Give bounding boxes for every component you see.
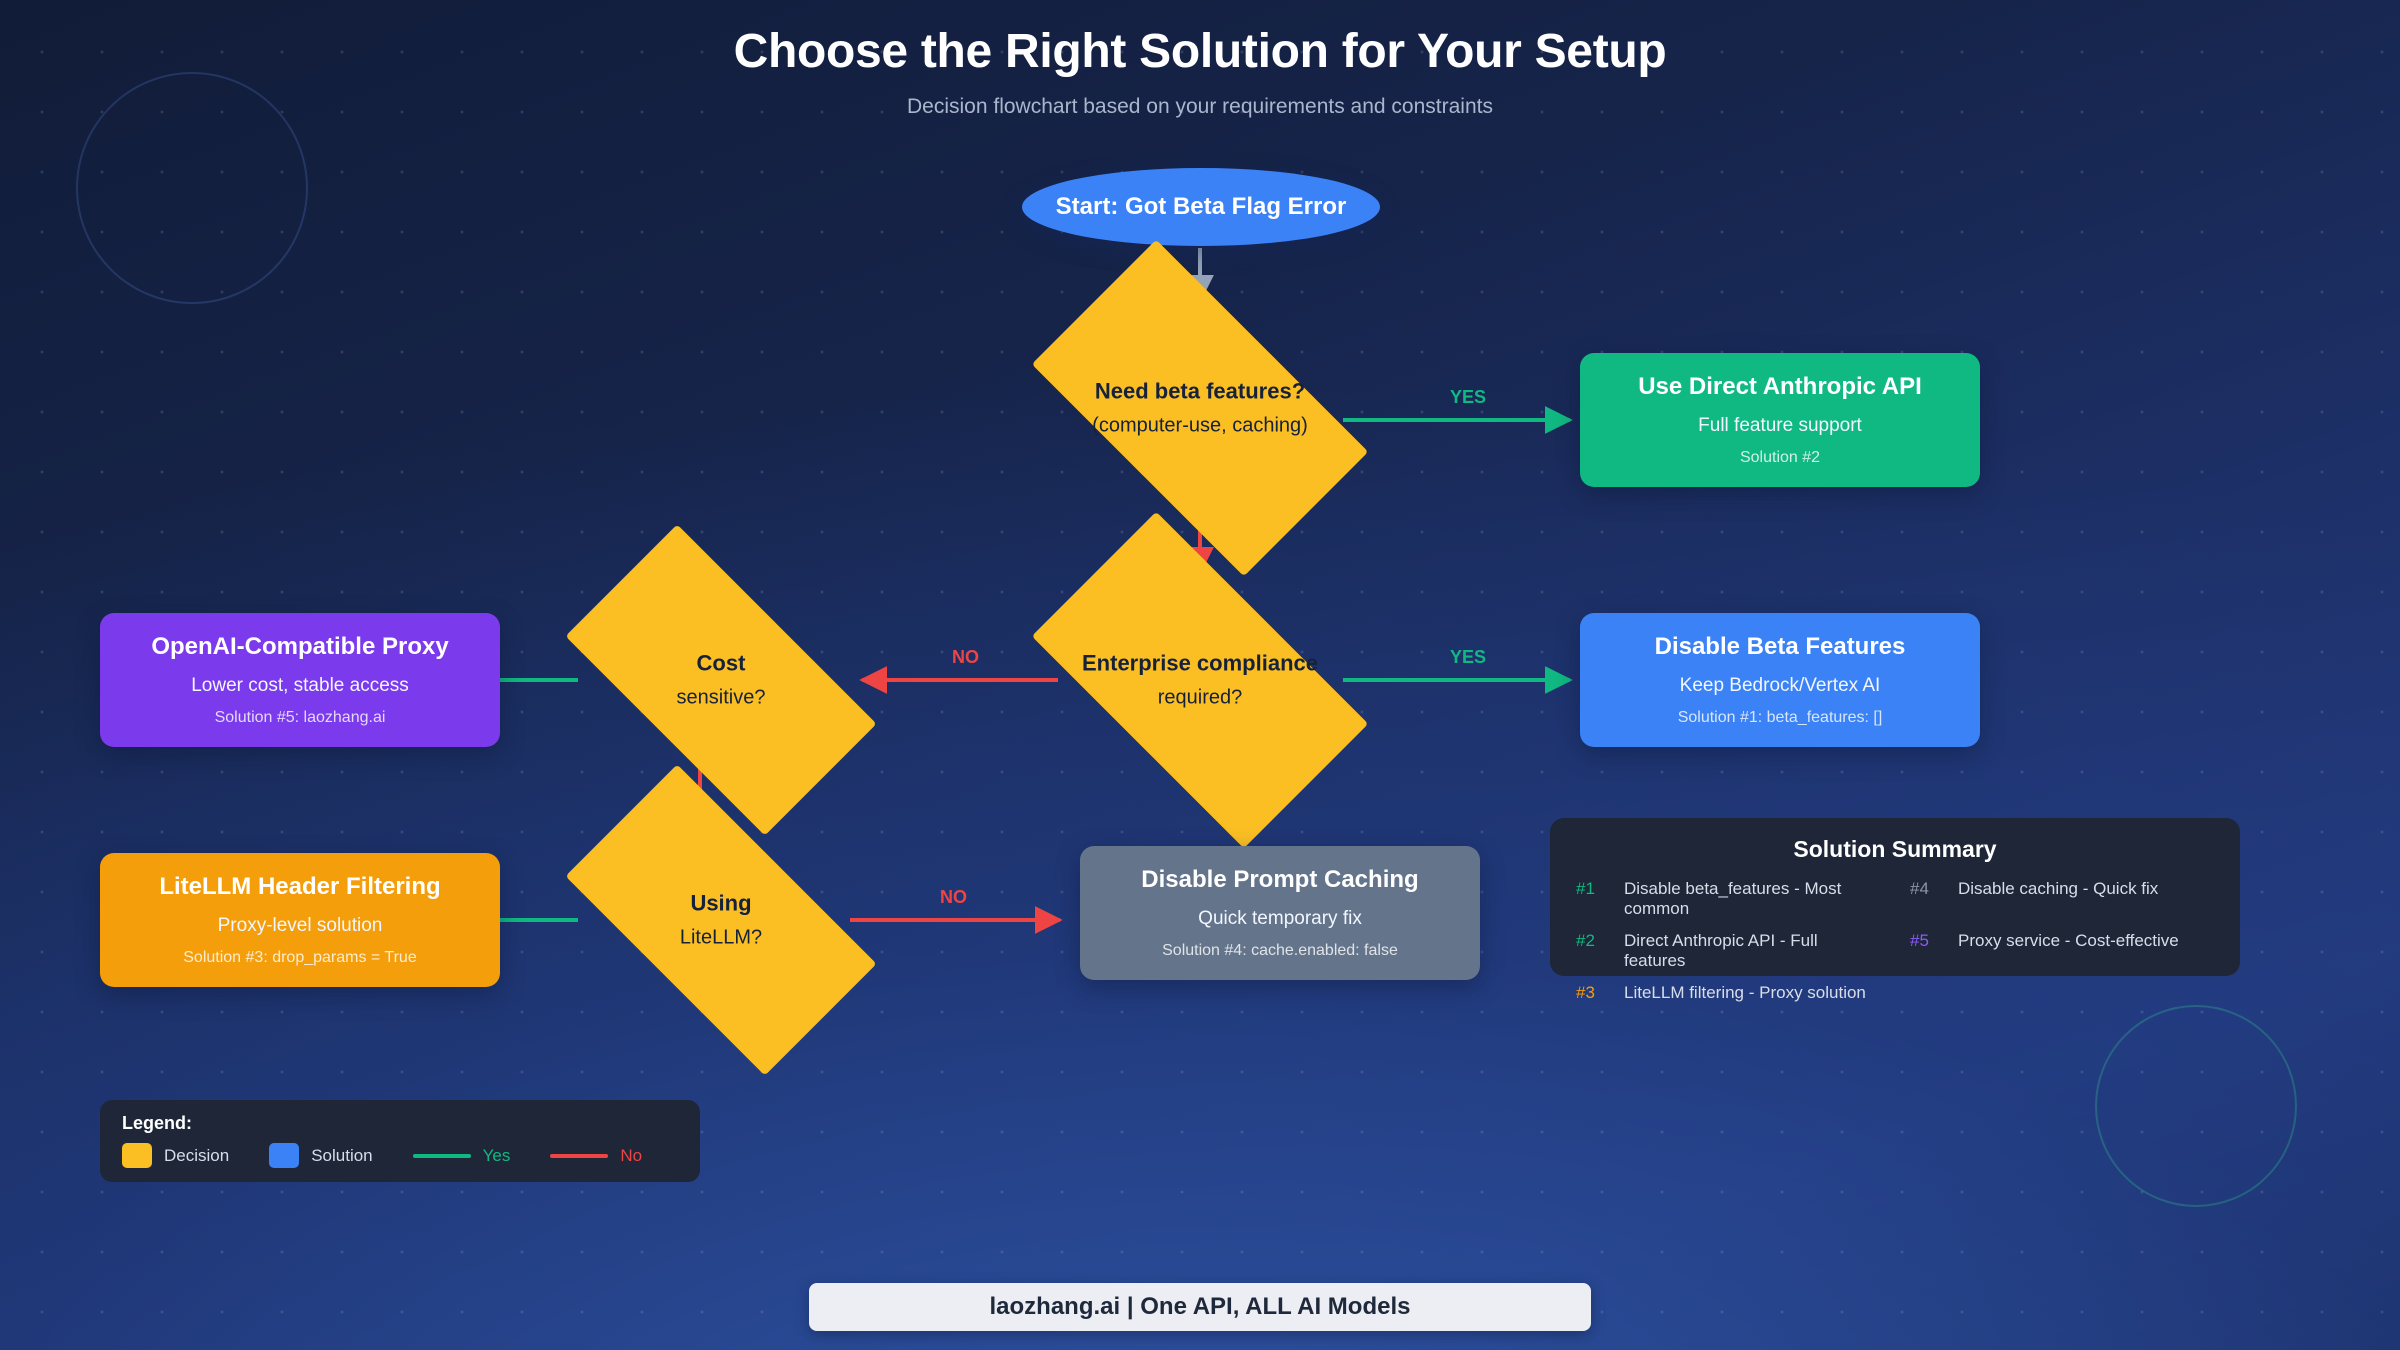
legend-item-solution: Solution [269, 1143, 372, 1168]
node-decision-need-beta-features[interactable]: Need beta features? (computer-use, cachi… [1050, 320, 1350, 496]
footer-text: laozhang.ai | One API, ALL AI Models [990, 1293, 1411, 1321]
solution-subtitle: Lower cost, stable access [191, 675, 409, 697]
summary-item-text: Proxy service - Cost-effective [1958, 931, 2179, 951]
decision-subtitle: required? [1050, 687, 1350, 710]
solution-subtitle: Full feature support [1698, 415, 1862, 437]
legend-title: Legend: [122, 1113, 678, 1134]
summary-item-number: #2 [1576, 931, 1624, 951]
node-decision-enterprise-compliance[interactable]: Enterprise compliance required? [1050, 592, 1350, 768]
summary-item-number: #4 [1910, 879, 1958, 899]
summary-item: #4 Disable caching - Quick fix [1910, 879, 2214, 919]
legend-item-yes: Yes [413, 1146, 511, 1166]
decision-title: Need beta features? [1050, 379, 1350, 405]
solution-subtitle: Quick temporary fix [1198, 908, 1362, 930]
node-decision-using-litellm[interactable]: Using LiteLLM? [580, 841, 862, 999]
summary-item-number: #5 [1910, 931, 1958, 951]
summary-item: #1 Disable beta_features - Most common [1576, 879, 1880, 919]
decision-subtitle: LiteLLM? [580, 927, 862, 950]
solution-meta: Solution #3: drop_params = True [183, 949, 416, 967]
solution-meta: Solution #5: laozhang.ai [215, 709, 386, 727]
node-solution-disable-beta-features[interactable]: Disable Beta Features Keep Bedrock/Verte… [1580, 613, 1980, 747]
legend-item-no: No [550, 1146, 642, 1166]
solution-subtitle: Keep Bedrock/Vertex AI [1680, 675, 1881, 697]
solution-subtitle: Proxy-level solution [218, 915, 383, 937]
decision-swatch-icon [122, 1143, 152, 1168]
solution-summary-panel: Solution Summary #1 Disable beta_feature… [1550, 818, 2240, 976]
no-line-icon [550, 1154, 608, 1158]
edge-label-compliance-no: NO [952, 647, 979, 668]
edge-label-beta-yes: YES [1450, 387, 1486, 408]
header: Choose the Right Solution for Your Setup… [0, 26, 2400, 119]
node-solution-openai-compatible-proxy[interactable]: OpenAI-Compatible Proxy Lower cost, stab… [100, 613, 500, 747]
footer-banner[interactable]: laozhang.ai | One API, ALL AI Models [809, 1283, 1591, 1331]
summary-item-number: #3 [1576, 983, 1624, 1003]
node-solution-disable-prompt-caching[interactable]: Disable Prompt Caching Quick temporary f… [1080, 846, 1480, 980]
solution-title: Disable Prompt Caching [1141, 866, 1418, 894]
solution-title: Disable Beta Features [1655, 633, 1906, 661]
legend-panel: Legend: Decision Solution Yes No [100, 1100, 700, 1182]
decorative-circle-bottom-right [2095, 1005, 2297, 1207]
summary-item: #5 Proxy service - Cost-effective [1910, 931, 2214, 971]
summary-empty-cell [1910, 983, 2214, 1003]
decision-title: Using [580, 891, 862, 917]
solution-meta: Solution #2 [1740, 449, 1820, 467]
page-title: Choose the Right Solution for Your Setup [0, 26, 2400, 79]
summary-item-text: Disable beta_features - Most common [1624, 879, 1880, 919]
decision-subtitle: sensitive? [580, 687, 862, 710]
decision-title: Enterprise compliance [1050, 651, 1350, 677]
summary-item: #3 LiteLLM filtering - Proxy solution [1576, 983, 1880, 1003]
solution-title: LiteLLM Header Filtering [159, 873, 440, 901]
legend-label: Yes [483, 1146, 511, 1166]
yes-line-icon [413, 1154, 471, 1158]
node-solution-litellm-header-filtering[interactable]: LiteLLM Header Filtering Proxy-level sol… [100, 853, 500, 987]
solution-title: OpenAI-Compatible Proxy [151, 633, 448, 661]
legend-label: No [620, 1146, 642, 1166]
summary-item-text: Direct Anthropic API - Full features [1624, 931, 1880, 971]
decision-subtitle: (computer-use, caching) [1050, 415, 1350, 438]
solution-title: Use Direct Anthropic API [1638, 373, 1922, 401]
legend-item-decision: Decision [122, 1143, 229, 1168]
legend-label: Decision [164, 1146, 229, 1166]
summary-item: #2 Direct Anthropic API - Full features [1576, 931, 1880, 971]
node-start-label: Start: Got Beta Flag Error [1056, 193, 1347, 221]
solution-summary-title: Solution Summary [1576, 836, 2214, 863]
solution-summary-grid: #1 Disable beta_features - Most common #… [1576, 879, 2214, 1003]
legend-label: Solution [311, 1146, 372, 1166]
edge-label-compliance-yes: YES [1450, 647, 1486, 668]
summary-item-text: Disable caching - Quick fix [1958, 879, 2158, 899]
node-decision-cost-sensitive[interactable]: Cost sensitive? [580, 601, 862, 759]
solution-swatch-icon [269, 1143, 299, 1168]
edge-label-litellm-no: NO [940, 887, 967, 908]
flowchart-canvas: Choose the Right Solution for Your Setup… [0, 0, 2400, 1350]
solution-meta: Solution #1: beta_features: [] [1678, 709, 1883, 727]
summary-item-number: #1 [1576, 879, 1624, 899]
decision-title: Cost [580, 651, 862, 677]
summary-item-text: LiteLLM filtering - Proxy solution [1624, 983, 1866, 1003]
legend-items: Decision Solution Yes No [122, 1143, 678, 1168]
node-solution-direct-anthropic-api[interactable]: Use Direct Anthropic API Full feature su… [1580, 353, 1980, 487]
page-subtitle: Decision flowchart based on your require… [0, 95, 2400, 119]
node-start[interactable]: Start: Got Beta Flag Error [1022, 168, 1380, 246]
solution-meta: Solution #4: cache.enabled: false [1162, 942, 1398, 960]
